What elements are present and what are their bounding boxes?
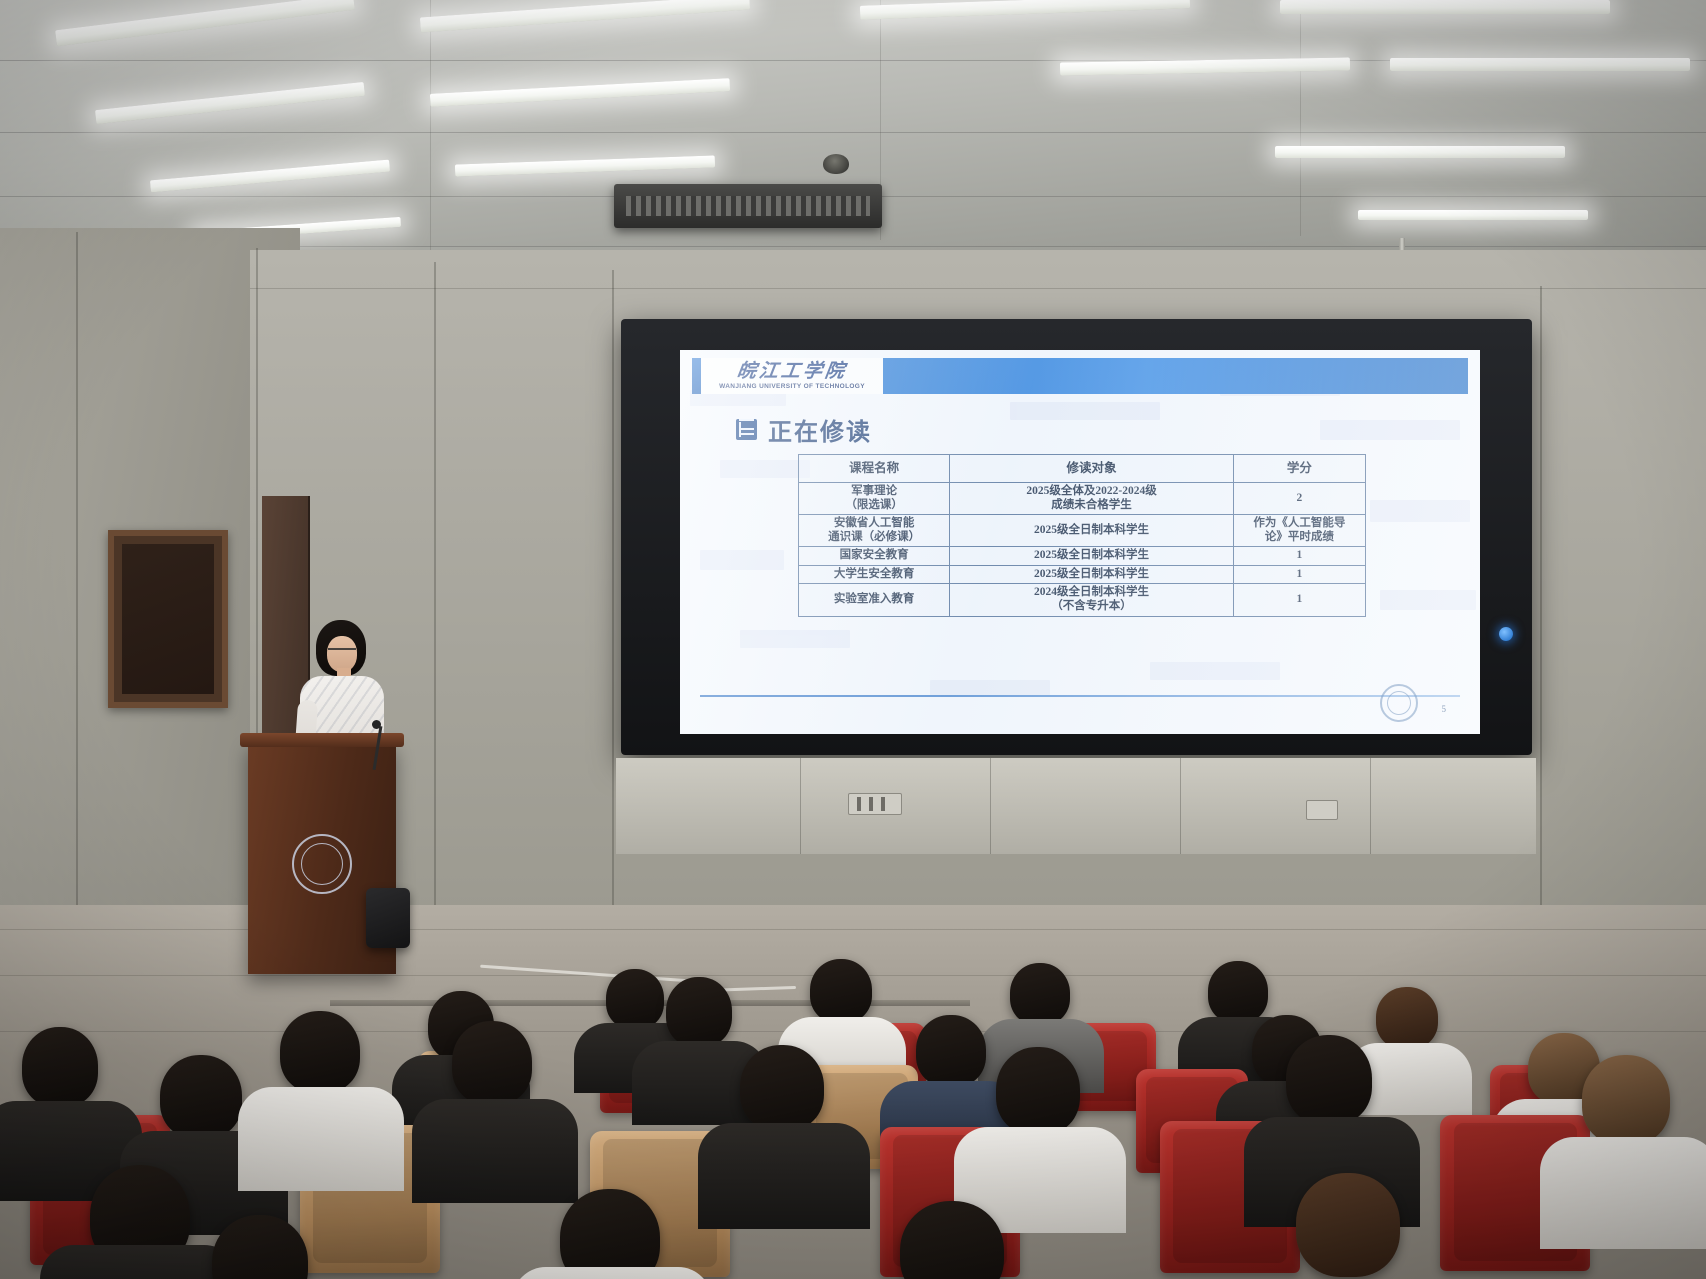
wall-panel-seam [76, 232, 78, 922]
slide-title: 正在修读 [768, 412, 872, 447]
audience-head [1376, 987, 1438, 1049]
cell-audience: 2025级全日制本科学生 [950, 515, 1233, 547]
cell-audience: 2025级全日制本科学生 [950, 547, 1233, 566]
dome-camera [823, 154, 849, 174]
audience-head [1286, 1035, 1372, 1125]
ceiling-light [1390, 58, 1690, 71]
audience-head [996, 1047, 1080, 1135]
header-blue-band [883, 358, 1468, 394]
audience-head [740, 1045, 824, 1131]
lower-wall-panel [616, 758, 1536, 854]
course-table: 课程名称 修读对象 学分 军事理论 （限选课） 2025级全体及2022-202… [798, 454, 1366, 617]
audience [0, 915, 1706, 1279]
wall-panel-seam [434, 262, 436, 922]
wall-frame [108, 530, 228, 708]
audience-head [280, 1011, 360, 1093]
table-row: 安徽省人工智能 通识课（必修课） 2025级全日制本科学生 作为《人工智能导 论… [799, 515, 1366, 547]
cell-course: 国家安全教育 [799, 547, 950, 566]
university-emblem [292, 834, 352, 894]
lecture-hall-photo: 皖江工学院 WANJIANG UNIVERSITY OF TECHNOLOGY … [0, 0, 1706, 1279]
cell-credits: 1 [1233, 547, 1365, 566]
wall-panel-seam [612, 270, 614, 910]
cell-credits: 1 [1233, 584, 1365, 616]
audience-head [1582, 1055, 1670, 1145]
wall-trim [250, 288, 1706, 289]
column-header-course: 课程名称 [799, 455, 950, 483]
ceiling-light [860, 0, 1190, 20]
audience-head [810, 959, 872, 1023]
ceiling-light [150, 160, 390, 193]
table-row: 军事理论 （限选课） 2025级全体及2022-2024级 成绩未合格学生 2 [799, 483, 1366, 515]
ceiling-light [1358, 210, 1588, 220]
header-accent-bar [692, 358, 701, 394]
university-seal [1380, 684, 1418, 722]
slide-footer-rule [700, 695, 1460, 697]
logo-english-name: WANJIANG UNIVERSITY OF TECHNOLOGY [719, 383, 865, 390]
audience-shoulders [698, 1123, 870, 1229]
table-row: 国家安全教育 2025级全日制本科学生 1 [799, 547, 1366, 566]
vent-louvers [626, 196, 870, 216]
cell-audience: 2025级全日制本科学生 [950, 565, 1233, 584]
audience-head [666, 977, 732, 1047]
table-row: 实验室准入教育 2024级全日制本科学生 （不含专升本） 1 [799, 584, 1366, 616]
audience-head [606, 969, 664, 1029]
audience-head [160, 1055, 242, 1139]
cell-course: 军事理论 （限选课） [799, 483, 950, 515]
table-header-row: 课程名称 修读对象 学分 [799, 455, 1366, 483]
ceiling-light [430, 78, 730, 107]
ceiling-light [55, 0, 355, 46]
cell-course: 安徽省人工智能 通识课（必修课） [799, 515, 950, 547]
column-header-audience: 修读对象 [950, 455, 1233, 483]
wall-panel-seam [1540, 286, 1542, 906]
presentation-slide[interactable]: 皖江工学院 WANJIANG UNIVERSITY OF TECHNOLOGY … [680, 350, 1480, 734]
audience-shoulders [40, 1245, 238, 1279]
slide-title-row: 正在修读 [736, 412, 872, 447]
cell-audience: 2024级全日制本科学生 （不含专升本） [950, 584, 1233, 616]
cell-credits: 1 [1233, 565, 1365, 584]
cell-credits: 2 [1233, 483, 1365, 515]
ceiling-light [455, 155, 715, 176]
presenter-glasses [328, 648, 356, 657]
wall-outlet[interactable] [848, 793, 902, 815]
cell-audience: 2025级全体及2022-2024级 成绩未合格学生 [950, 483, 1233, 515]
column-header-credits: 学分 [1233, 455, 1365, 483]
university-logo: 皖江工学院 WANJIANG UNIVERSITY OF TECHNOLOGY [701, 358, 883, 394]
course-table-wrapper: 课程名称 修读对象 学分 军事理论 （限选课） 2025级全体及2022-202… [798, 454, 1366, 617]
microphone-head [372, 720, 381, 729]
ceiling-light [95, 82, 365, 124]
audience-head [22, 1027, 98, 1107]
cell-course: 实验室准入教育 [799, 584, 950, 616]
audience-head [452, 1021, 532, 1105]
wall-outlet[interactable] [1306, 800, 1338, 820]
audience-head [1208, 961, 1268, 1023]
audience-shoulders [512, 1267, 712, 1279]
audience-head [560, 1189, 660, 1279]
audience-shoulders [238, 1087, 404, 1191]
table-list-icon [736, 419, 757, 440]
audience-head [1296, 1173, 1400, 1277]
slide-page-number: 5 [1442, 704, 1447, 714]
ceiling-light [420, 0, 750, 32]
ceiling-light [1280, 0, 1610, 14]
audience-shoulders [1540, 1137, 1706, 1249]
ceiling-light [1275, 146, 1565, 158]
audience-shoulders [412, 1099, 578, 1203]
slide-header-band: 皖江工学院 WANJIANG UNIVERSITY OF TECHNOLOGY [692, 358, 1468, 394]
audience-head [1010, 963, 1070, 1025]
cell-course: 大学生安全教育 [799, 565, 950, 584]
logo-chinese-name: 皖江工学院 [736, 362, 849, 381]
screen-power-indicator [1499, 627, 1513, 641]
table-row: 大学生安全教育 2025级全日制本科学生 1 [799, 565, 1366, 584]
cell-credits: 作为《人工智能导 论》平时成绩 [1233, 515, 1365, 547]
audience-head [916, 1015, 986, 1087]
